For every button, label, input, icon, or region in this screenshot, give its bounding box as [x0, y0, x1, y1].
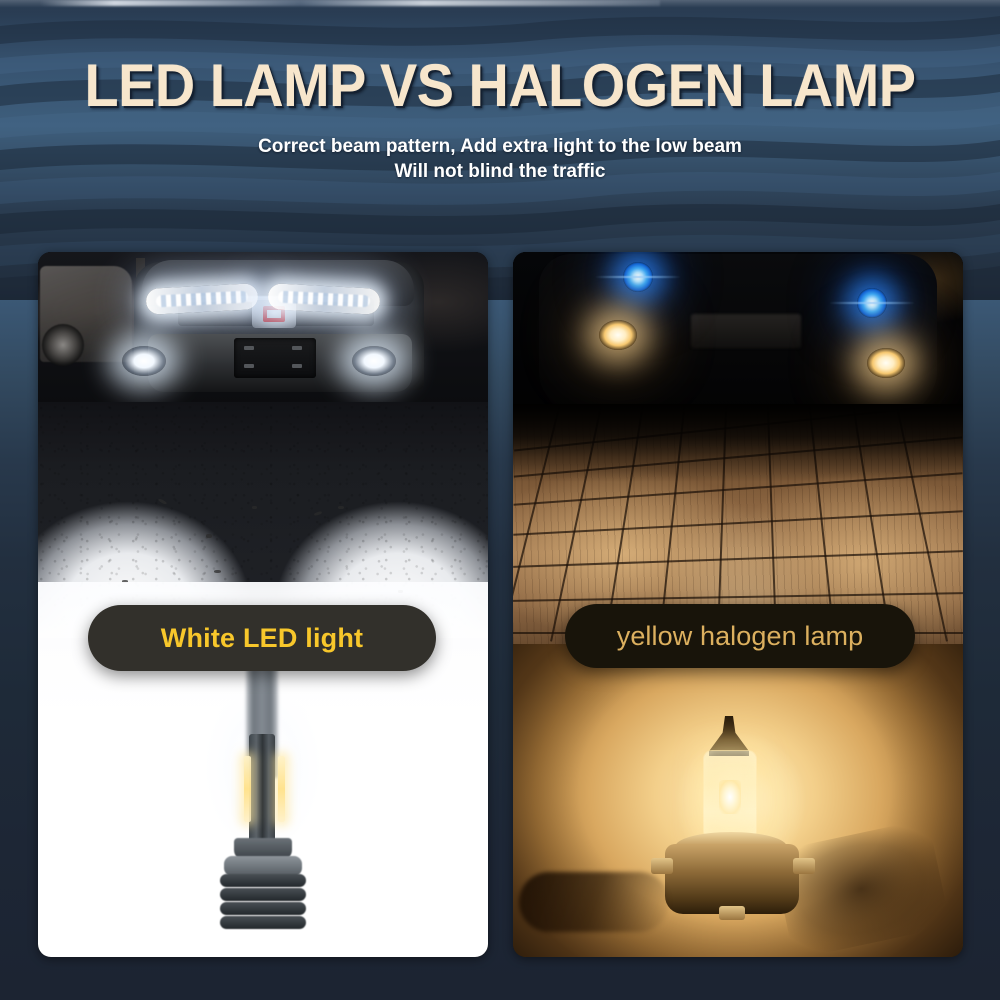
header: LED LAMP VS HALOGEN LAMP Correct beam pa… — [0, 0, 1000, 184]
comparison-panels: White LED light — [38, 252, 963, 957]
halogen-bulb-studio — [513, 644, 963, 957]
halogen-studio-vignette — [513, 644, 963, 957]
led-chip-right — [278, 756, 285, 822]
led-badge-label: White LED light — [161, 623, 363, 654]
led-heatsink-ring-3 — [220, 902, 306, 915]
led-heatsink-ring-1 — [220, 874, 306, 887]
led-bulb-base — [224, 856, 302, 876]
halogen-badge[interactable]: yellow halogen lamp — [565, 604, 915, 668]
subtitle-line-1: Correct beam pattern, Add extra light to… — [0, 134, 1000, 159]
fog-light-right — [352, 346, 396, 376]
led-heatsink-ring-2 — [220, 888, 306, 901]
led-photo: White LED light — [38, 252, 488, 957]
led-headlight-right-strip — [278, 291, 371, 308]
led-chip-left — [244, 756, 251, 822]
background-wheel — [42, 324, 84, 366]
subtitle-block: Correct beam pattern, Add extra light to… — [0, 134, 1000, 184]
led-heatsink-ring-4 — [220, 916, 306, 929]
led-headlight-left-strip — [156, 291, 249, 308]
halogen-photo: yellow halogen lamp — [513, 252, 963, 957]
halogen-headlight-left — [599, 320, 637, 350]
halogen-comparison-panel[interactable]: yellow halogen lamp — [513, 252, 963, 957]
pavement-shadow-band — [513, 404, 963, 482]
led-badge[interactable]: White LED light — [88, 605, 436, 671]
led-bulb-body — [249, 734, 275, 846]
subtitle-line-2: Will not blind the traffic — [0, 159, 1000, 184]
halogen-license-plate — [691, 314, 801, 348]
fog-light-left — [122, 346, 166, 376]
page-title: LED LAMP VS HALOGEN LAMP — [35, 56, 965, 116]
halogen-headlight-right — [867, 348, 905, 378]
led-comparison-panel[interactable]: White LED light — [38, 252, 488, 957]
led-bulb-studio — [38, 638, 488, 957]
product-comparison-canvas: LED LAMP VS HALOGEN LAMP Correct beam pa… — [0, 0, 1000, 1000]
halogen-badge-label: yellow halogen lamp — [617, 621, 864, 652]
license-plate — [234, 338, 316, 378]
